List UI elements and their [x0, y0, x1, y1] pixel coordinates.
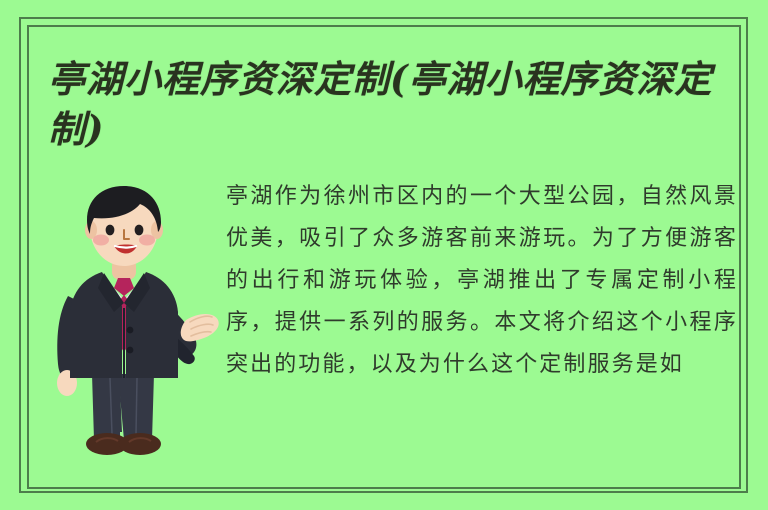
- illustration-cartoon-businessman: [44, 178, 220, 478]
- waving-hand: [181, 314, 219, 341]
- right-blush: [139, 235, 155, 246]
- businessman-icon: [44, 178, 220, 478]
- right-eye: [135, 225, 144, 236]
- left-blush: [93, 235, 109, 246]
- jacket-button-bottom: [127, 347, 134, 354]
- right-shoe: [119, 433, 161, 455]
- page-root: 亭湖小程序资深定制(亭湖小程序资深定制): [0, 0, 768, 510]
- article-body-text: 亭湖作为徐州市区内的一个大型公园，自然风景优美，吸引了众多游客前来游玩。为了方便…: [226, 176, 738, 481]
- left-eye: [106, 225, 115, 236]
- page-title: 亭湖小程序资深定制(亭湖小程序资深定制): [48, 54, 736, 154]
- jacket-button-top: [127, 327, 134, 334]
